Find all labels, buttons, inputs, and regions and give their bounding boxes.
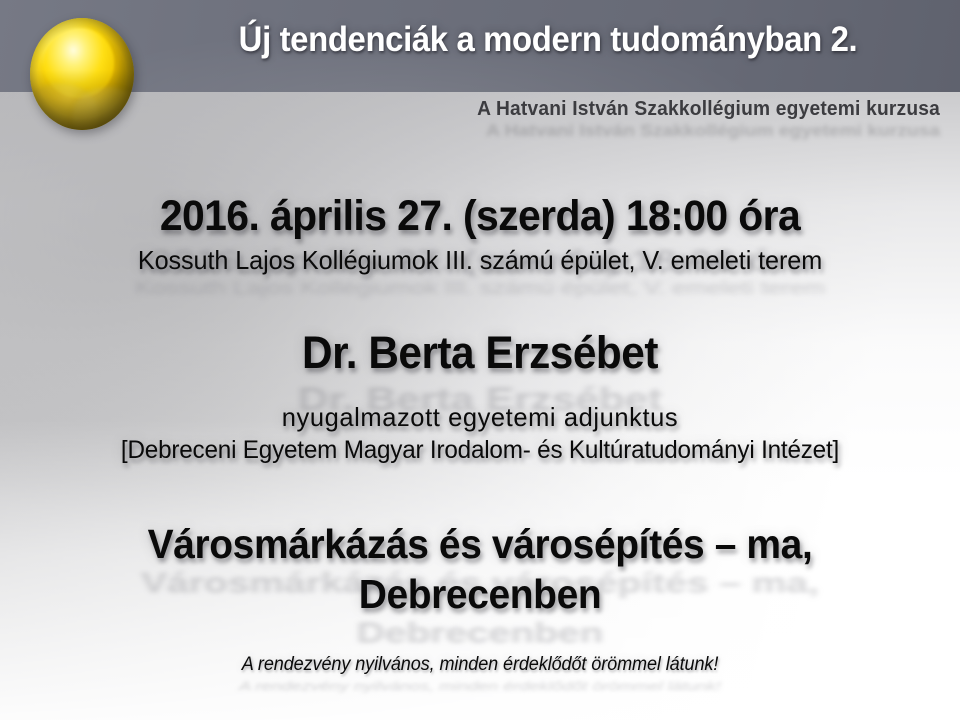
footer-note-reflection: A rendezvény nyilvános, minden érdeklődő…: [24, 678, 936, 696]
poster-title: Új tendenciák a modern tudományban 2.: [181, 20, 914, 60]
topic-line1: Városmárkázás és városépítés – ma,: [24, 520, 936, 568]
event-datetime: 2016. április 27. (szerda) 18:00 óra: [24, 190, 936, 242]
header-subtitle: A Hatvani István Szakkollégium egyetemi …: [230, 97, 940, 121]
speaker-institution: [Debreceni Egyetem Magyar Irodalom- és K…: [14, 434, 945, 466]
gold-sphere-icon: [30, 18, 134, 130]
topic-line2: Debrecenben: [24, 570, 936, 618]
event-venue-reflection: Kossuth Lajos Kollégiumok III. számú épü…: [14, 276, 945, 300]
sphere-rim: [30, 18, 134, 130]
header-subtitle-reflection: A Hatvani István Szakkollégium egyetemi …: [230, 121, 940, 141]
event-venue: Kossuth Lajos Kollégiumok III. számú épü…: [14, 243, 945, 277]
speaker-role: nyugalmazott egyetemi adjunktus: [10, 400, 951, 434]
speaker-name: Dr. Berta Erzsébet: [29, 326, 931, 380]
topic-line2-reflection: Debrecenben: [24, 616, 936, 650]
footer-note: A rendezvény nyilvános, minden érdeklődő…: [24, 652, 936, 678]
poster-canvas: Új tendenciák a modern tudományban 2. A …: [0, 0, 960, 720]
